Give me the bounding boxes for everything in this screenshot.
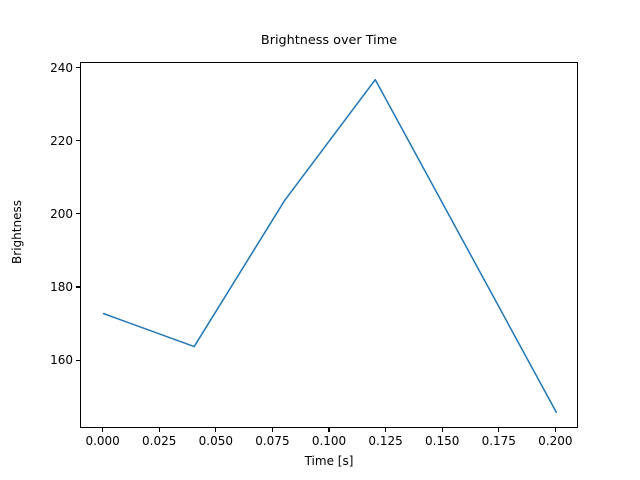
y-axis-tick-label: 160	[50, 353, 73, 367]
y-axis-tick-label: 220	[50, 134, 73, 148]
x-axis-tick-label: 0.125	[368, 434, 402, 448]
x-axis-tick-label: 0.100	[312, 434, 346, 448]
y-axis-tick-label: 180	[50, 280, 73, 294]
plot-svg	[81, 63, 579, 429]
y-axis-tick-label: 240	[50, 61, 73, 75]
x-axis-tick-label: 0.150	[425, 434, 459, 448]
y-axis-tick-label: 200	[50, 207, 73, 221]
plot-area	[80, 62, 578, 428]
data-series-line	[104, 80, 557, 413]
chart-title: Brightness over Time	[80, 33, 578, 48]
x-axis-tick-label: 0.025	[142, 434, 176, 448]
y-axis-tick-labels: 160180200220240	[0, 0, 73, 480]
x-axis-tick-label: 0.175	[482, 434, 516, 448]
x-axis-tick-label: 0.075	[255, 434, 289, 448]
figure-canvas: Brightness over Time Brightness 16018020…	[0, 0, 640, 480]
x-axis-label: Time [s]	[80, 454, 578, 468]
x-axis-tick-label: 0.000	[85, 434, 119, 448]
x-axis-tick-label: 0.050	[199, 434, 233, 448]
x-axis-tick-label: 0.200	[538, 434, 572, 448]
